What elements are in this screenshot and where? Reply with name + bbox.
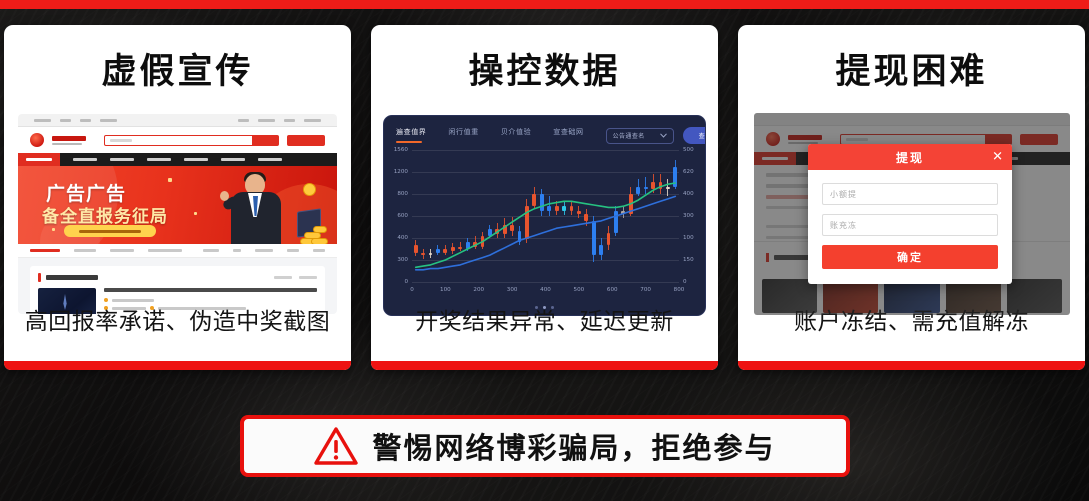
x-axis-label: 500 (574, 287, 585, 293)
amount-field[interactable]: 小额提 (822, 183, 998, 205)
website-header (18, 127, 337, 153)
y-axis-label-right: 620 (683, 169, 694, 175)
y-axis-label-left: 400 (397, 235, 408, 241)
website-action-button[interactable] (287, 135, 325, 146)
select-value: 公告通查名 (613, 131, 645, 140)
dialog-body: 小额提 账充冻 确定 (808, 170, 1012, 284)
y-axis-label-right: 100 (683, 235, 694, 241)
card-bottom-accent (371, 361, 718, 370)
moving-average-lines (412, 150, 679, 282)
card-bottom-accent (4, 361, 351, 370)
chart-filter-select[interactable]: 公告通查名 (606, 128, 674, 144)
candlestick-plot: 1560500120062080040060030040010030015000… (412, 150, 679, 282)
x-axis-label: 600 (607, 287, 618, 293)
website-utility-bar (18, 114, 337, 127)
chart-tab-3[interactable]: 宣查础网 (553, 127, 583, 143)
y-axis-label-left: 600 (397, 213, 408, 219)
y-axis-label-right: 0 (683, 279, 687, 285)
x-axis-label: 200 (473, 287, 484, 293)
y-axis-label-left: 800 (397, 191, 408, 197)
y-axis-label-right: 400 (683, 191, 694, 197)
withdraw-dialog[interactable]: 提现 ✕ 小额提 账充冻 确定 (808, 144, 1012, 284)
card-title: 虚假宣传 (101, 55, 253, 90)
banner-subheadline: 备全直报务征局 (42, 202, 168, 227)
close-icon[interactable]: ✕ (992, 151, 1003, 164)
card-withdrawal-difficulty[interactable]: 提现困难 (738, 25, 1085, 370)
y-axis-label-left: 0 (404, 279, 408, 285)
y-axis-label-left: 1560 (394, 147, 408, 153)
x-axis-label: 400 (540, 287, 551, 293)
x-axis-label: 100 (440, 287, 451, 293)
coin-stack-icon (301, 224, 331, 244)
promo-banner: 广告广告 备全直报务征局 (18, 166, 337, 244)
y-axis-label-right: 500 (683, 147, 694, 153)
chart-gridline (412, 282, 679, 283)
x-axis-label: 300 (507, 287, 518, 293)
spokesman-figure (229, 172, 283, 244)
warning-banner: 警惕网络博彩骗局，拒绝参与 (240, 415, 850, 477)
banner-cta-pill[interactable] (64, 225, 156, 237)
card-bottom-accent (738, 361, 1085, 370)
chart-tab-1[interactable]: 闲行值重 (448, 127, 478, 143)
trading-chart-screenshot: 遍查值界 闲行值重 贝介值验 宣查础网 公告通查名 查询 15605001200… (383, 115, 706, 316)
card-caption: 高回报率承诺、伪造中奖截图 (4, 302, 351, 336)
chevron-down-icon (660, 133, 667, 138)
chart-tab-2[interactable]: 贝介值验 (501, 127, 531, 143)
card-fake-promotion[interactable]: 虚假宣传 (4, 25, 351, 370)
top-red-stripe (0, 0, 1089, 9)
x-axis-label: 800 (674, 287, 685, 293)
withdraw-screenshot: 提现 ✕ 小额提 账充冻 确定 (754, 113, 1070, 315)
cards-row: 虚假宣传 (0, 25, 1089, 370)
dialog-header: 提现 ✕ (808, 144, 1012, 170)
y-axis-label-right: 150 (683, 257, 694, 263)
y-axis-label-left: 1200 (394, 169, 408, 175)
card-manipulated-data[interactable]: 操控数据 遍查值界 闲行值重 贝介值验 宣查础网 公告通查名 查询 1560 (371, 25, 718, 370)
site-logo-icon (30, 133, 44, 147)
coin-icon (304, 184, 315, 195)
x-axis-label: 700 (640, 287, 651, 293)
card-title: 操控数据 (468, 55, 620, 90)
chart-tab-0[interactable]: 遍查值界 (396, 127, 426, 143)
warning-triangle-icon (314, 426, 358, 466)
website-screenshot: 广告广告 备全直报务征局 (18, 114, 337, 314)
card-caption: 开奖结果异常、延迟更新 (371, 302, 718, 336)
chart-toolbar: 遍查值界 闲行值重 贝介值验 宣查础网 公告通查名 查询 (384, 116, 705, 144)
website-search-input[interactable] (104, 135, 279, 146)
website-nav[interactable] (18, 153, 337, 166)
y-axis-label-left: 300 (397, 257, 408, 263)
x-axis-label: 0 (410, 287, 414, 293)
website-subnav[interactable] (18, 244, 337, 258)
card-title: 提现困难 (835, 55, 987, 90)
y-axis-label-right: 300 (683, 213, 694, 219)
warning-text: 警惕网络博彩骗局，拒绝参与 (372, 425, 775, 467)
account-field[interactable]: 账充冻 (822, 214, 998, 236)
dialog-title: 提现 (896, 149, 924, 166)
confirm-button[interactable]: 确定 (822, 245, 998, 269)
chart-query-button[interactable]: 查询 (683, 127, 706, 144)
